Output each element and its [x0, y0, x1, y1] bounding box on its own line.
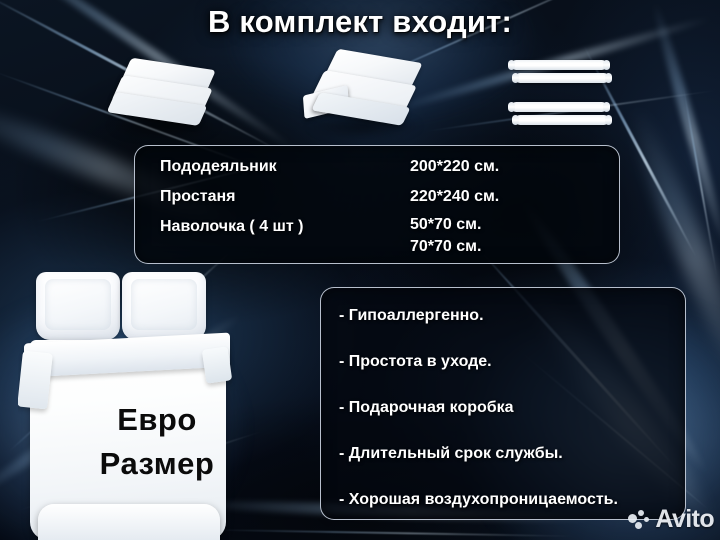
avito-wordmark: Avito [655, 505, 714, 534]
features-panel: - Гипоаллергенно. - Простота в уходе. - … [320, 287, 686, 520]
pillowcase-roll [515, 73, 609, 83]
folded-duvet-cover-photo [104, 62, 224, 140]
spec-row-value: 200*220 см. [410, 158, 499, 176]
spec-row-value: 220*240 см. [410, 188, 499, 206]
bed-caption-line-2: Размер [18, 444, 296, 484]
feature-item: - Подарочная коробка [339, 399, 514, 417]
pillowcase-rolls-photo [505, 56, 615, 132]
spec-row-value: 50*70 см. [410, 216, 481, 234]
spec-panel: Пододеяльник 200*220 см. Простаня 220*24… [134, 145, 620, 264]
feature-item: - Хорошая воздухопроницаемость. [339, 491, 618, 509]
bed-pillow-left [36, 272, 120, 340]
pillowcase-roll [511, 60, 607, 70]
pillowcase-roll [515, 115, 609, 125]
bed-mattress-edge [38, 504, 220, 540]
pillow-inner [45, 279, 111, 330]
bed-caption-line-1: Евро [18, 400, 296, 440]
bed-photo: Евро Размер [18, 266, 296, 540]
folded-sheet-photo [300, 56, 426, 140]
spec-row-label: Пододеяльник [160, 158, 277, 176]
spec-row-value: 70*70 см. [410, 238, 481, 256]
spec-row-label: Простаня [160, 188, 235, 206]
promo-image: В комплект входит: Пододеяльник 200*220 … [0, 0, 720, 540]
pillow-inner [131, 279, 197, 330]
avito-dots-icon [628, 510, 652, 530]
bed-duvet-fold [202, 346, 232, 383]
feature-item: - Простота в уходе. [339, 353, 492, 371]
page-title: В комплект входит: [0, 4, 720, 40]
feature-item: - Гипоаллергенно. [339, 307, 484, 325]
bed-pillow-right [122, 272, 206, 340]
avito-watermark: Avito [628, 505, 714, 534]
spec-row-label: Наволочка ( 4 шт ) [160, 218, 303, 236]
feature-item: - Длительный срок службы. [339, 445, 563, 463]
pillowcase-roll [511, 102, 607, 112]
